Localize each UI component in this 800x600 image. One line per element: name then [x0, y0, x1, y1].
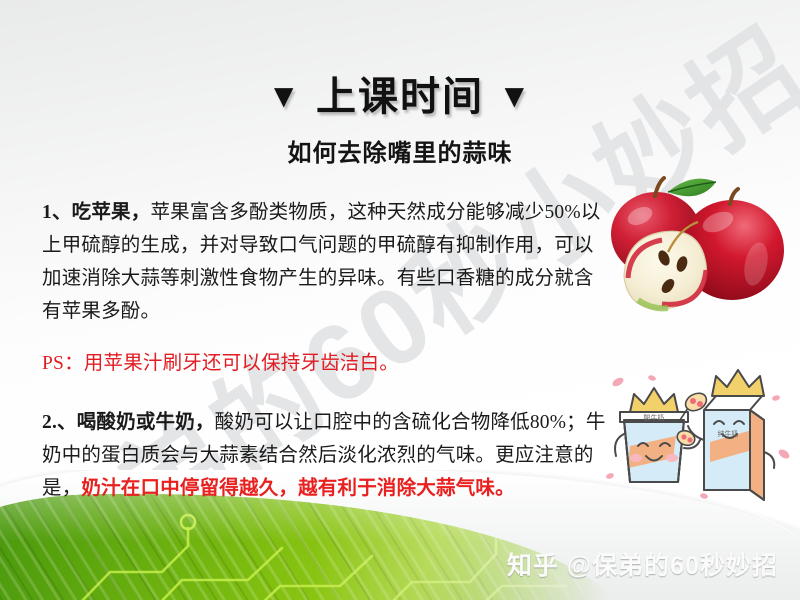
- svg-text:纯牛奶: 纯牛奶: [718, 429, 739, 438]
- body-copy: 1、吃苹果，苹果富含多酚类物质，这种天然成分能够减少50%以上甲硫醇的生成，并对…: [42, 196, 612, 505]
- page-title-text: 上课时间: [316, 75, 484, 119]
- triangle-left-icon: ▼: [267, 77, 302, 114]
- svg-text:酸牛奶: 酸牛奶: [644, 413, 665, 422]
- paragraph-milk: 2.、喝酸奶或牛奶，酸奶可以让口腔中的含硫化合物降低80%；牛奶中的蛋白质会与大…: [42, 406, 612, 505]
- red-apples-photo: [598, 160, 798, 335]
- page-subtitle: 如何去除嘴里的蒜味: [0, 133, 800, 168]
- milk-cartons-cartoon: 酸牛奶 纯牛奶: [600, 368, 800, 513]
- paragraph-milk-lead: 2.、喝酸奶或牛奶，: [42, 412, 215, 433]
- slide-canvas: 保弟的60秒小妙招 ▼上课时间▼ 如何去除嘴里的蒜味: [0, 0, 800, 600]
- paragraph-apple: 1、吃苹果，苹果富含多酚类物质，这种天然成分能够减少50%以上甲硫醇的生成，并对…: [42, 196, 612, 328]
- ps-note: PS：用苹果汁刷牙还可以保持牙齿洁白。: [42, 347, 612, 380]
- page-title: ▼上课时间▼: [0, 64, 800, 122]
- paragraph-apple-lead: 1、吃苹果，: [42, 202, 150, 223]
- triangle-right-icon: ▼: [498, 77, 533, 114]
- footer-handle: 知乎 @保弟的60秒妙招: [507, 546, 778, 582]
- paragraph-milk-highlight: 奶汁在口中停留得越久，越有利于消除大蒜气味。: [81, 478, 514, 499]
